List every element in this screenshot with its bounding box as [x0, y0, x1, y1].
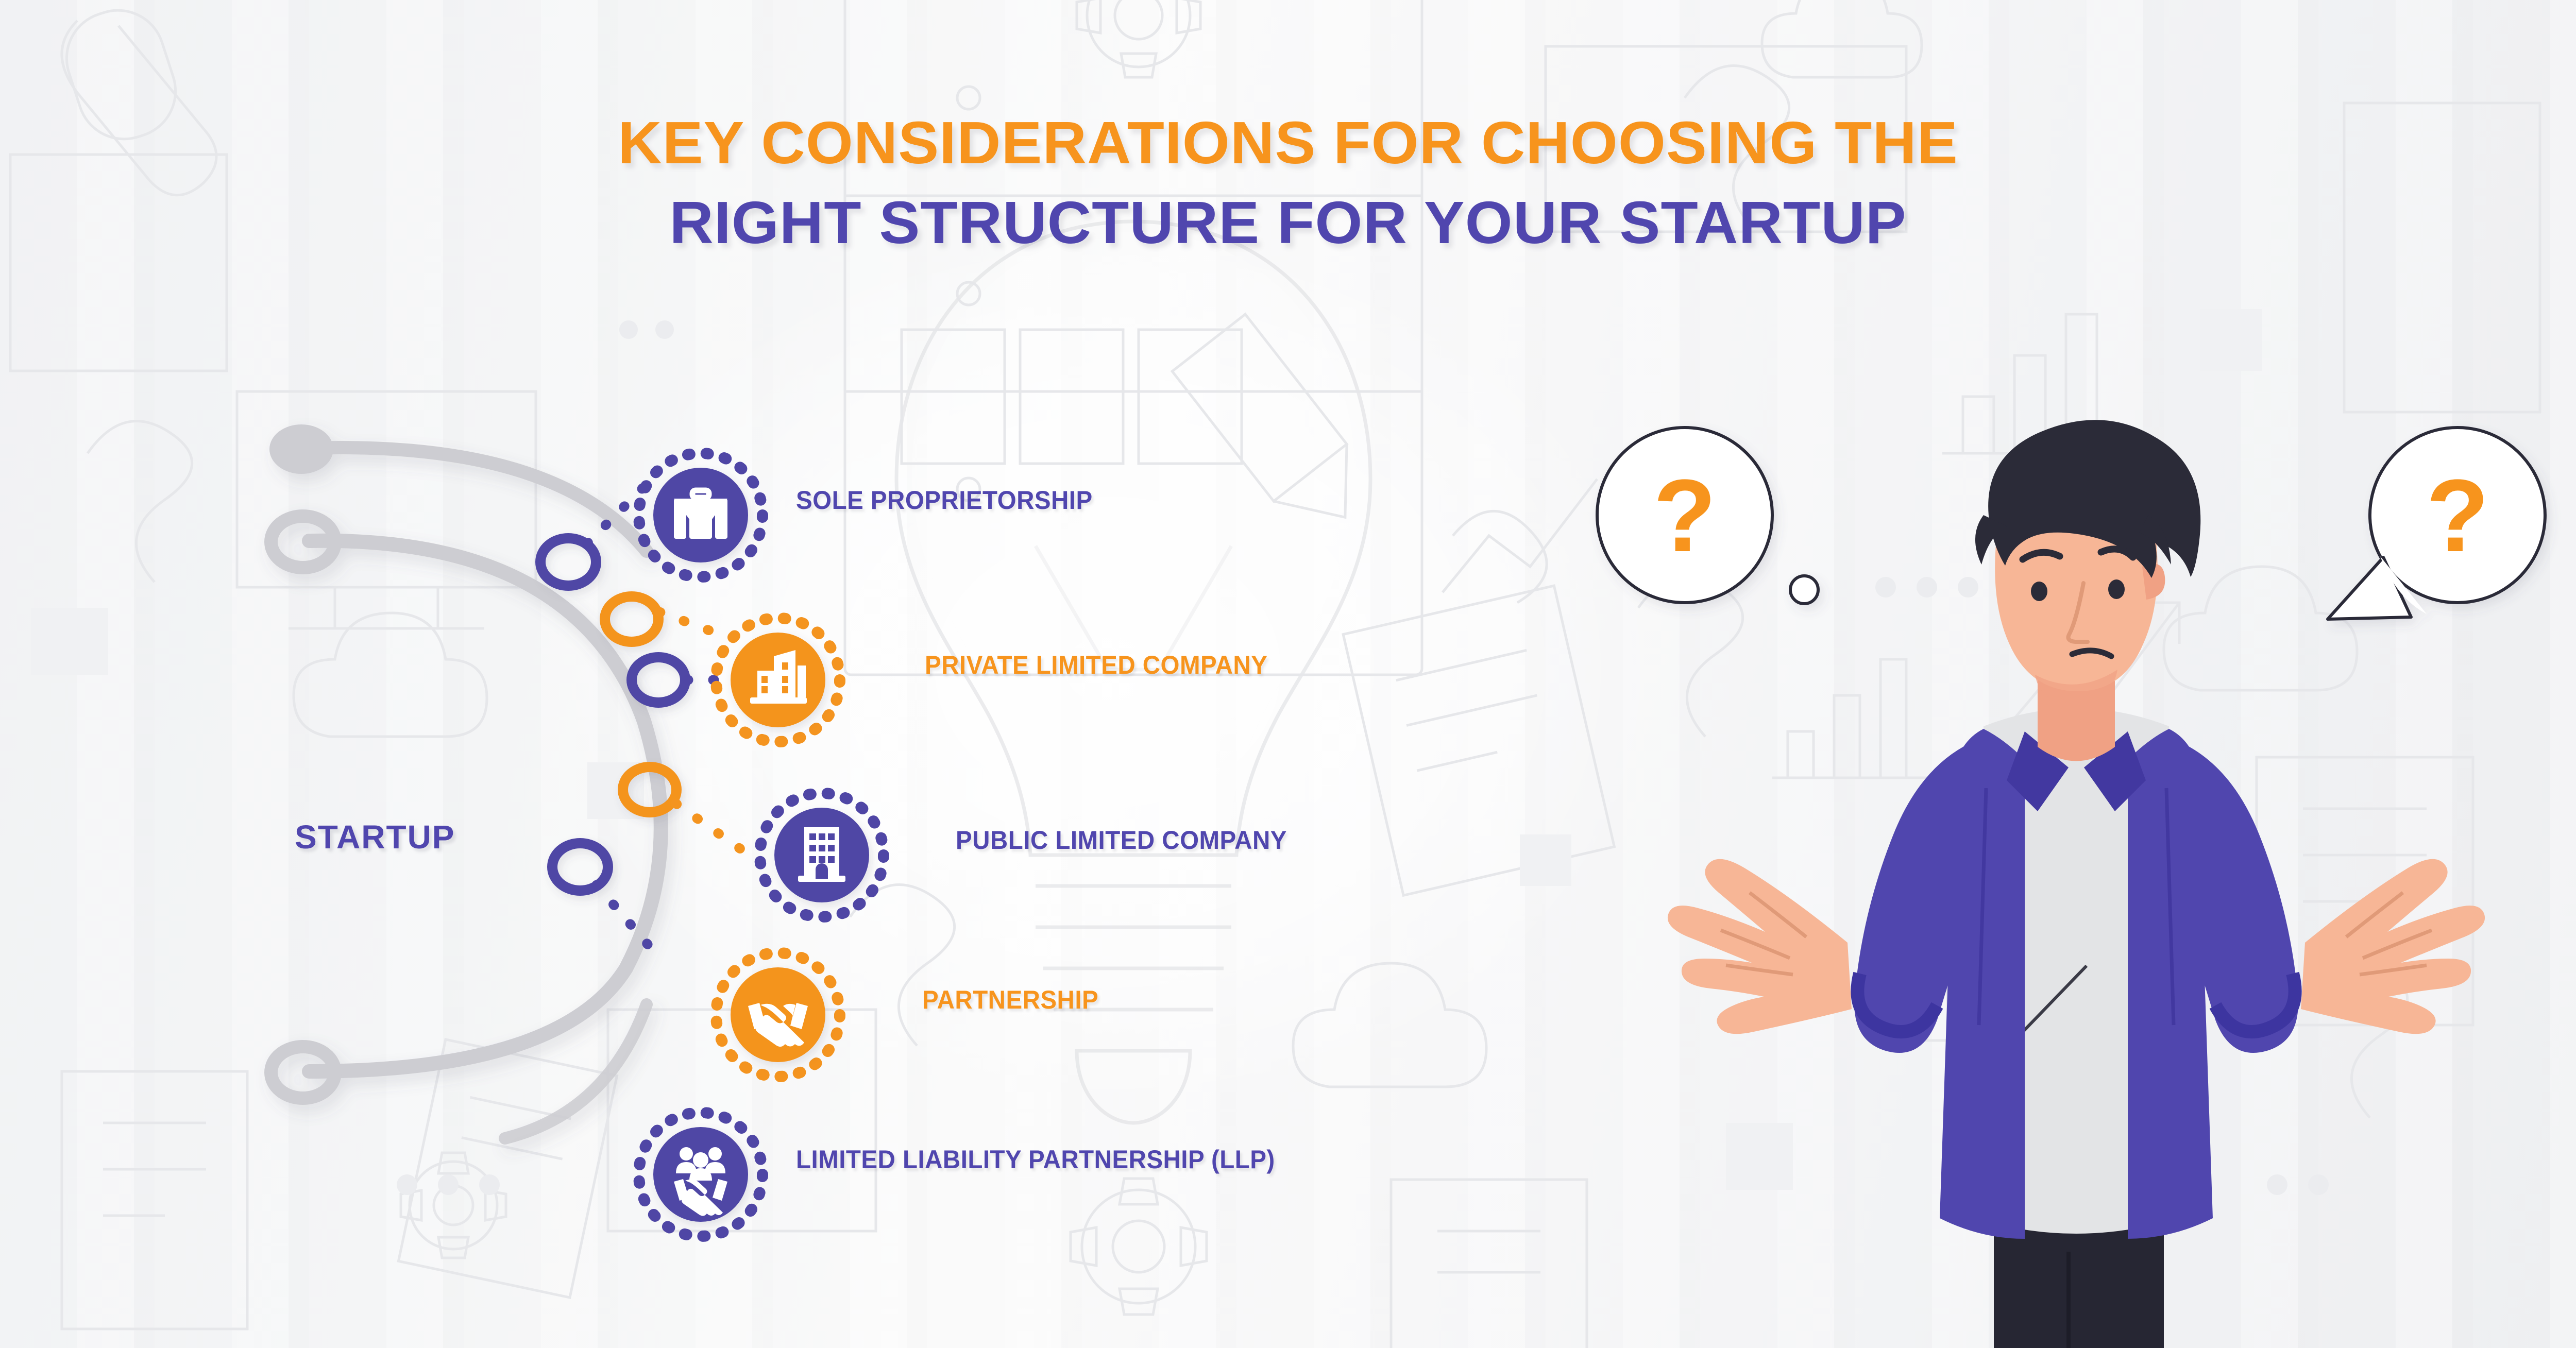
node-sole-proprietorship[interactable] — [639, 453, 762, 577]
person-figure — [1668, 420, 2485, 1348]
speech-bubble-question-mark: ? — [2426, 458, 2489, 573]
confused-person-illustration: ? ? — [1571, 397, 2576, 1348]
thought-bubble-question-mark: ? — [1653, 458, 1716, 573]
node-label-limited-liability-partnership: LIMITED LIABILITY PARTNERSHIP (LLP) — [796, 1145, 1275, 1174]
bracket-arc-group — [269, 424, 661, 1138]
node-limited-liability-partnership[interactable] — [639, 1113, 762, 1236]
startup-root-label: STARTUP — [295, 818, 455, 856]
office-building-icon — [798, 827, 845, 882]
dotted-connector-4 — [676, 804, 742, 850]
person-head — [1975, 420, 2200, 703]
connector-ring-2 — [605, 596, 658, 642]
person-right-arm — [2166, 737, 2485, 1053]
person-left-arm — [1668, 737, 1986, 1053]
node-label-private-limited-company: PRIVATE LIMITED COMPANY — [925, 650, 1267, 680]
dotted-connector-2 — [659, 612, 732, 639]
node-label-partnership: PARTNERSHIP — [922, 985, 1098, 1015]
node-label-public-limited-company: PUBLIC LIMITED COMPANY — [956, 825, 1287, 855]
node-partnership[interactable] — [716, 953, 840, 1077]
title-line-1: KEY CONSIDERATIONS FOR CHOOSING THE — [0, 103, 2576, 183]
page-title: KEY CONSIDERATIONS FOR CHOOSING THE RIGH… — [0, 103, 2576, 263]
bracket-pin-top — [269, 424, 333, 474]
node-public-limited-company[interactable] — [760, 793, 884, 917]
connector-ring-3 — [632, 657, 685, 703]
node-label-sole-proprietorship: SOLE PROPRIETORSHIP — [796, 485, 1093, 515]
title-line-2: RIGHT STRUCTURE FOR YOUR STARTUP — [0, 183, 2576, 263]
node-private-limited-company[interactable] — [716, 618, 840, 742]
thought-bubble-dot — [1790, 576, 1818, 604]
